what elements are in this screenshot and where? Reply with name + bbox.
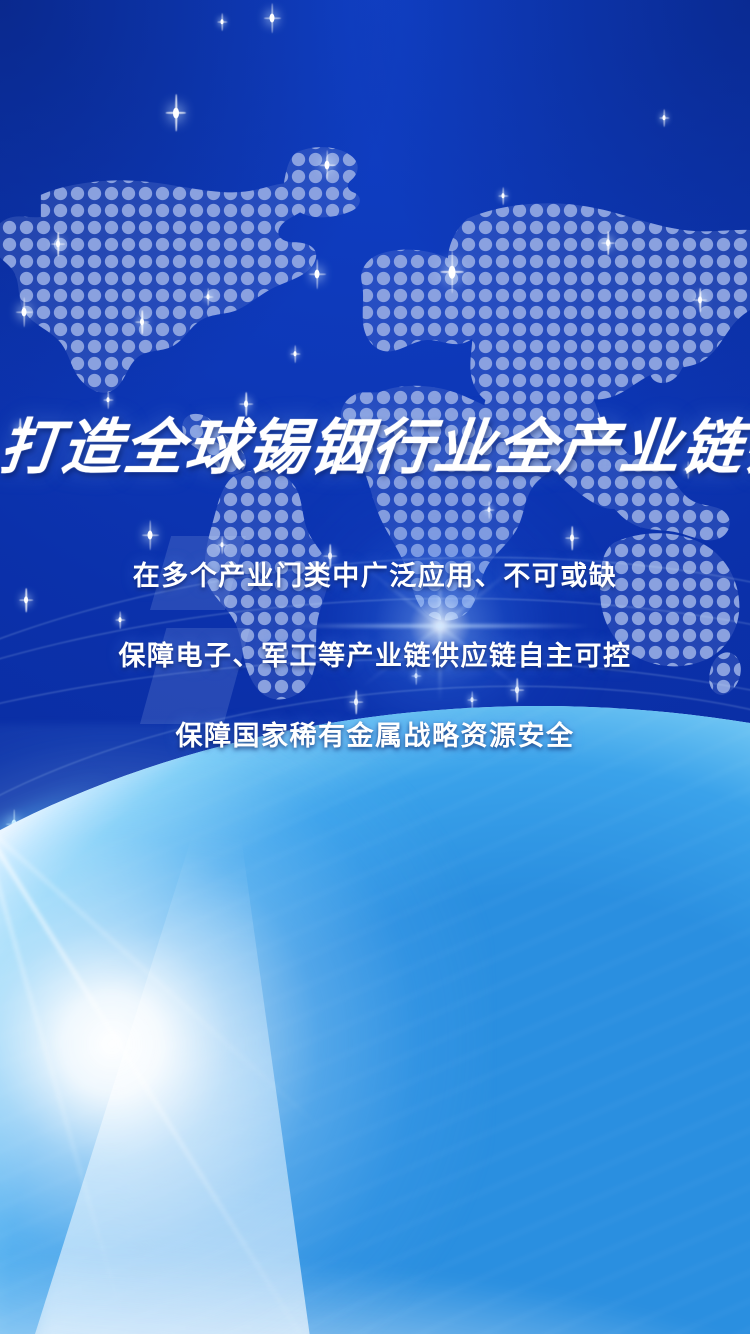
page-title: 打造全球锡铟行业全产业链链主 xyxy=(0,418,750,478)
poster-root: 打造全球锡铟行业全产业链链主 在多个产业门类中广泛应用、不可或缺 保障电子、军工… xyxy=(0,0,750,1334)
content-layer: 打造全球锡铟行业全产业链链主 在多个产业门类中广泛应用、不可或缺 保障电子、军工… xyxy=(0,0,750,1334)
subtitle-line-3: 保障国家稀有金属战略资源安全 xyxy=(0,723,750,750)
subtitle-line-1: 在多个产业门类中广泛应用、不可或缺 xyxy=(0,563,750,590)
subtitle-line-2: 保障电子、军工等产业链供应链自主可控 xyxy=(0,643,750,670)
